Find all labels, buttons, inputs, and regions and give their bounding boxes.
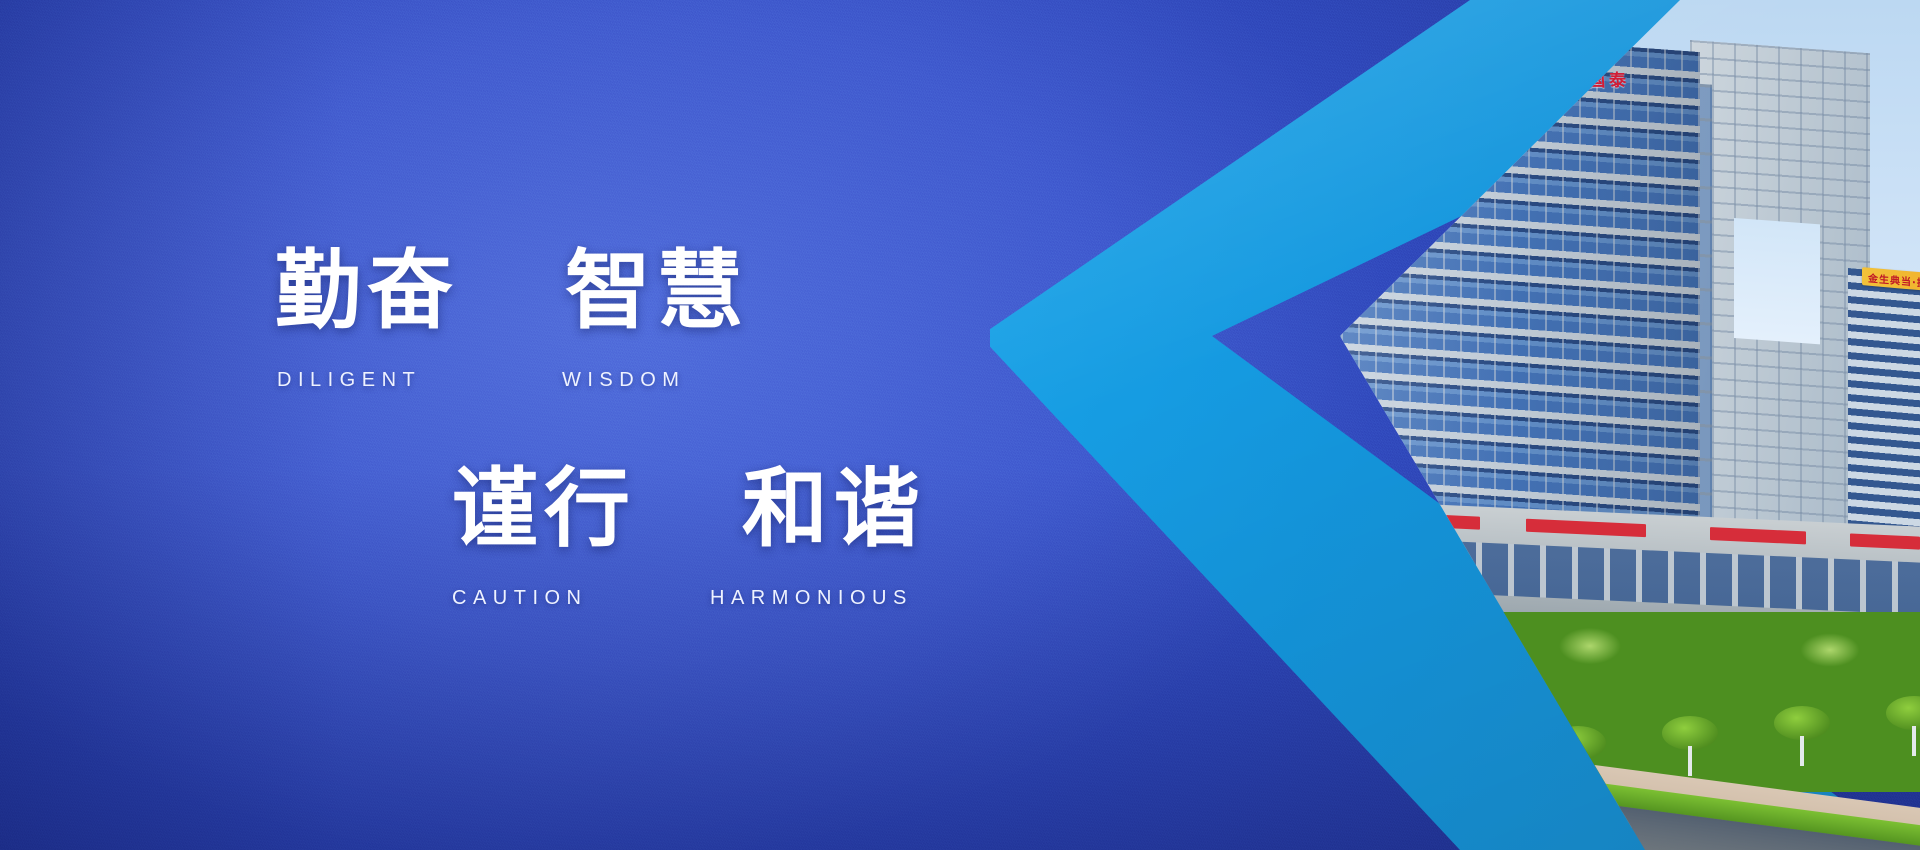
- slogan-line2-cn-part2: 和谐: [742, 459, 926, 559]
- slogan-line1-cn-part1: 勤奋: [275, 241, 459, 341]
- slogan-line1-en-part2: WISDOM: [562, 370, 685, 390]
- slogan-line1-chinese: 勤奋 智慧: [275, 248, 749, 334]
- corporate-slogan-banner: 江苏国泰 金生典当·投资: [0, 0, 1920, 850]
- slogan-line2-en-part1: CAUTION: [452, 588, 710, 608]
- slogan-block: 勤奋 智慧 DILIGENT WISDOM 谨行 和谐 CAUTION HARM…: [0, 0, 1000, 850]
- street-tree-trunk: [1688, 746, 1692, 776]
- slogan-line2-cn-part1: 谨行: [452, 459, 636, 559]
- slogan-line2-chinese: 谨行 和谐: [452, 466, 926, 552]
- street-tree-trunk: [1912, 726, 1916, 756]
- slogan-line2-english: CAUTION HARMONIOUS: [452, 588, 932, 608]
- chevron-photo-graphic: 江苏国泰 金生典当·投资: [990, 0, 1920, 850]
- slogan-line1-en-part1: DILIGENT: [277, 370, 562, 390]
- street-tree-crown: [1662, 716, 1718, 750]
- slogan-line1-english: DILIGENT WISDOM: [277, 370, 697, 390]
- slogan-line1-cn-part2: 智慧: [565, 241, 749, 341]
- slogan-line2-en-part2: HARMONIOUS: [710, 588, 913, 608]
- street-tree-trunk: [1800, 736, 1804, 766]
- tower-sky-opening: [1734, 218, 1820, 344]
- street-tree-crown: [1774, 706, 1830, 740]
